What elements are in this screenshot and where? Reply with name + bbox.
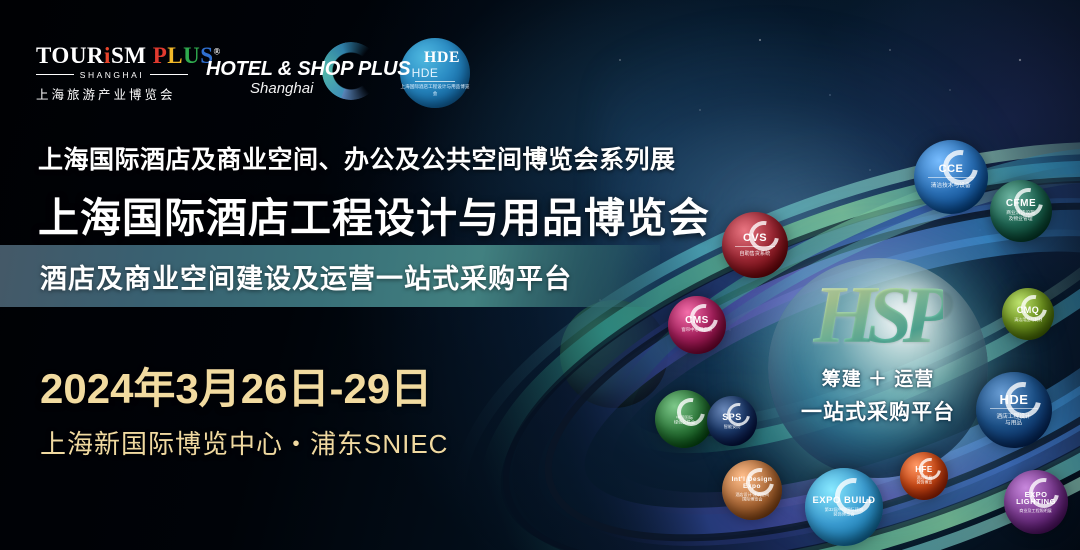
hotel-shop-plus-logo: HOTEL & SHOP PLUS Shanghai [206, 40, 382, 106]
tourism-city-row: SHANGHAI [36, 70, 188, 80]
tourism-part-l: L [167, 43, 183, 68]
subtitle-text: 酒店及商业空间建设及运营一站式采购平台 [40, 257, 572, 296]
hde-circle-logo: HDE HDE 上海国际酒店工程设计与用品博览会 [400, 38, 470, 108]
badge-cfme[interactable]: CFME商业清洁设施 及物业管理 [990, 180, 1052, 242]
badge-subtitle: 清洁用品与耗材 [1014, 317, 1042, 322]
badge-green-leaf[interactable]: 中国国际 绿色交易会 [655, 390, 713, 448]
rule-left-icon [36, 74, 74, 75]
rule-right-icon [150, 74, 188, 75]
tourism-plus-logo: TOURiSM PLUS® SHANGHAI 上海旅游产业博览会 [36, 44, 188, 103]
event-date: 2024年3月26日-29日 [40, 368, 448, 410]
core-sphere-content: HSP 筹建 ＋ 运营 一站式采购平台 [768, 258, 988, 478]
tourism-part-p: P [153, 43, 168, 68]
tourism-part-tour: TOUR [36, 43, 104, 68]
tourism-part-i: i [104, 43, 111, 68]
badge-subtitle: 窗帘中心展面积 [682, 328, 713, 333]
badge-expo-lighting[interactable]: EXPO LIGHTING商业及工程照明展 [1004, 470, 1068, 534]
logo-row: TOURiSM PLUS® SHANGHAI 上海旅游产业博览会 HOTEL &… [36, 38, 470, 108]
badge-subtitle: 智能安防 [724, 424, 741, 429]
badge-subtitle: 商业及工程照明展 [1020, 508, 1052, 513]
badge-subtitle: 清洁技术与设备 [931, 183, 971, 190]
badge-subtitle: 商业清洁设施 及物业管理 [1007, 212, 1036, 223]
tourism-plus-wordmark: TOURiSM PLUS® [36, 44, 188, 67]
hde-serif-mark: HDE [424, 49, 460, 67]
badge-cmq[interactable]: CMQ清洁用品与耗材 [1002, 288, 1054, 340]
badge-subtitle: 第32届中国国际建筑 装饰博览会 [825, 508, 864, 518]
tourism-part-sm: SM [111, 43, 147, 68]
badge-subtitle: 酒店工程设计 与用品 [997, 413, 1031, 426]
event-venue: 上海新国际博览中心・浦东SNIEC [40, 424, 448, 461]
core-tagline-secondary: 一站式采购平台 [801, 396, 955, 426]
event-info-block: 2024年3月26日-29日 上海新国际博览中心・浦东SNIEC [40, 368, 448, 461]
hde-divider-icon [415, 81, 455, 82]
main-title: 上海国际酒店工程设计与用品博览会 [38, 184, 738, 244]
core-tagline-primary: 筹建 ＋ 运营 [822, 364, 935, 391]
promo-banner: HSP 筹建 ＋ 运营 一站式采购平台 CCE清洁技术与设备CFME商业清洁设施… [0, 0, 1080, 550]
badge-subtitle: 酒店家具 装饰博览 [916, 477, 931, 486]
series-title: 上海国际酒店及商业空间、办公及公共空间博览会系列展 [38, 140, 738, 176]
badge-intl-design-expo[interactable]: Int'l Design Expo酒店设计·建筑空间 国际博览会 [722, 460, 782, 520]
tourism-city-label: SHANGHAI [80, 70, 144, 80]
badge-expobuild[interactable]: EXPO BUILD第32届中国国际建筑 装饰博览会 [805, 468, 883, 546]
badge-sps[interactable]: SPS智能安防 [707, 396, 757, 446]
badge-subtitle: 酒店设计·建筑空间 国际博览会 [735, 493, 769, 502]
hde-sans-mark: HDE [412, 66, 439, 80]
badge-subtitle: 自助售货系统 [740, 251, 771, 257]
badge-hde-badge[interactable]: HDE酒店工程设计 与用品 [976, 372, 1052, 448]
badge-subtitle: 中国国际 绿色交易会 [673, 415, 694, 425]
tourism-part-u: U [183, 43, 200, 68]
subtitle-bar: 酒店及商业空间建设及运营一站式采购平台 [0, 245, 660, 307]
hde-chinese-label: 上海国际酒店工程设计与用品博览会 [400, 84, 470, 96]
hsp-monogram: HSP [813, 274, 942, 356]
headline-block: 上海国际酒店及商业空间、办公及公共空间博览会系列展 上海国际酒店工程设计与用品博… [38, 140, 738, 244]
badge-emblem-icon [672, 393, 711, 432]
hotel-shop-plus-wordmark: HOTEL & SHOP PLUS [206, 58, 410, 81]
tourism-chinese-label: 上海旅游产业博览会 [36, 84, 188, 103]
hotel-shop-plus-city: Shanghai [250, 80, 313, 97]
badge-cms[interactable]: CMS窗帘中心展面积 [668, 296, 726, 354]
badge-cce[interactable]: CCE清洁技术与设备 [914, 140, 988, 214]
badge-hfe[interactable]: HFE酒店家具 装饰博览 [900, 452, 948, 500]
